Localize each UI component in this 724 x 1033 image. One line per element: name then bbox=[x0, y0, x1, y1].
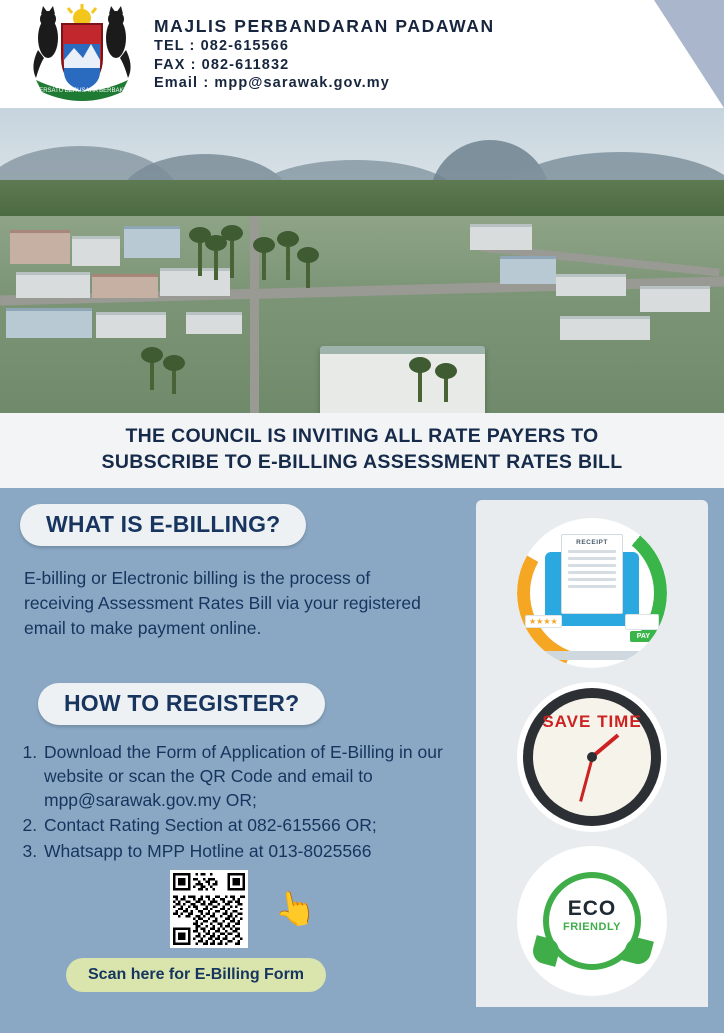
eco-friendly-illustration: ECO FRIENDLY bbox=[517, 846, 667, 996]
left-column: WHAT IS E-BILLING? E-billing or Electron… bbox=[0, 488, 468, 992]
eco-text-block: ECO FRIENDLY bbox=[517, 898, 667, 933]
laptop-base bbox=[535, 651, 649, 660]
what-is-ebilling-heading-pill: WHAT IS E-BILLING? bbox=[20, 504, 306, 546]
list-item: Download the Form of Application of E-Bi… bbox=[42, 741, 450, 812]
email-line: Email : mpp@sarawak.gov.my bbox=[154, 74, 495, 93]
credit-card-icon bbox=[625, 614, 659, 630]
how-to-register-heading: HOW TO REGISTER? bbox=[64, 690, 299, 716]
receipt-line bbox=[568, 585, 616, 588]
photo-town bbox=[0, 216, 724, 413]
banner-line-1: THE COUNCIL IS INVITING ALL RATE PAYERS … bbox=[20, 424, 704, 450]
receipt-line bbox=[568, 578, 616, 581]
council-building bbox=[320, 346, 485, 413]
receipt-online-payment-illustration: RECEIPT ★★★★ PAY bbox=[517, 518, 667, 668]
illustration-panel: RECEIPT ★★★★ PAY SAVE TIME bbox=[476, 500, 708, 1016]
receipt-icon: RECEIPT bbox=[561, 534, 623, 614]
receipt-line bbox=[568, 557, 616, 560]
banner: THE COUNCIL IS INVITING ALL RATE PAYERS … bbox=[0, 413, 724, 488]
how-to-register-heading-pill: HOW TO REGISTER? bbox=[38, 683, 325, 725]
poster: BERSATU BERUSAHA BERBAKTI MAJLIS PERBAND… bbox=[0, 0, 724, 1024]
receipt-line bbox=[568, 550, 616, 553]
header-text-block: MAJLIS PERBANDARAN PADAWAN TEL : 082-615… bbox=[150, 15, 495, 93]
coat-of-arms-crest-icon: BERSATU BERUSAHA BERBAKTI bbox=[18, 4, 146, 104]
telephone-line: TEL : 082-615566 bbox=[154, 37, 495, 56]
aerial-town-photo bbox=[0, 108, 724, 413]
pay-button-illustration: PAY bbox=[630, 631, 657, 642]
eco-label-primary: ECO bbox=[517, 898, 667, 919]
list-item: Contact Rating Section at 082-615566 OR; bbox=[42, 814, 450, 838]
scan-here-label: Scan here for E-Billing Form bbox=[88, 966, 304, 983]
what-is-ebilling-body: E-billing or Electronic billing is the p… bbox=[20, 566, 440, 641]
list-item: Whatsapp to MPP Hotline at 013-8025566 bbox=[42, 840, 450, 864]
save-time-caption: SAVE TIME bbox=[517, 712, 667, 732]
pointing-hand-icon: 👆 bbox=[271, 889, 319, 930]
scan-here-pill[interactable]: Scan here for E-Billing Form bbox=[66, 958, 326, 992]
header-corner-decoration bbox=[654, 0, 724, 108]
qr-code-icon[interactable] bbox=[170, 870, 248, 948]
eco-label-secondary: FRIENDLY bbox=[517, 921, 667, 933]
footer-strip bbox=[0, 1007, 724, 1033]
banner-line-2: SUBSCRIBE TO E-BILLING ASSESSMENT RATES … bbox=[20, 450, 704, 476]
receipt-title: RECEIPT bbox=[568, 539, 616, 546]
content-area: WHAT IS E-BILLING? E-billing or Electron… bbox=[0, 488, 724, 1033]
rating-stars-icon: ★★★★ bbox=[525, 615, 562, 628]
header: BERSATU BERUSAHA BERBAKTI MAJLIS PERBAND… bbox=[0, 0, 724, 108]
qr-row: 👆 bbox=[20, 870, 450, 948]
organization-name: MAJLIS PERBANDARAN PADAWAN bbox=[154, 15, 495, 37]
receipt-line bbox=[568, 571, 616, 574]
what-is-ebilling-heading: WHAT IS E-BILLING? bbox=[46, 511, 280, 537]
save-time-clock-illustration: SAVE TIME bbox=[517, 682, 667, 832]
crest-container: BERSATU BERUSAHA BERBAKTI bbox=[0, 4, 150, 104]
fax-line: FAX : 082-611832 bbox=[154, 56, 495, 75]
registration-steps-list: Download the Form of Application of E-Bi… bbox=[20, 741, 450, 864]
receipt-line bbox=[568, 564, 616, 567]
spacer bbox=[20, 641, 450, 683]
svg-text:BERSATU BERUSAHA BERBAKTI: BERSATU BERUSAHA BERBAKTI bbox=[35, 88, 129, 94]
